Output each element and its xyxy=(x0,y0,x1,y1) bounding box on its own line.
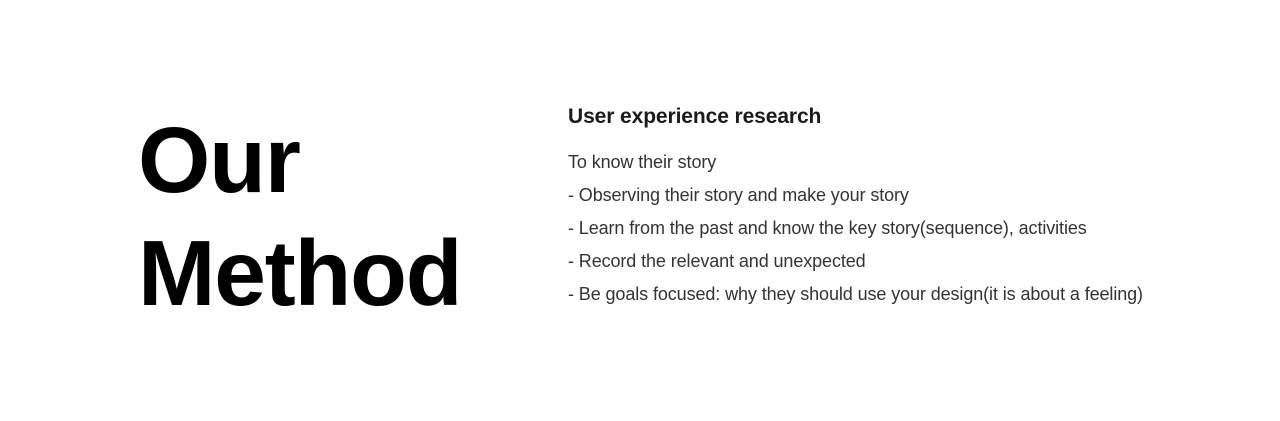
title-block: Our Method xyxy=(138,104,538,330)
list-item: - Record the relevant and unexpected xyxy=(568,251,1208,272)
page-title: Our Method xyxy=(138,104,538,330)
list-item: - Observing their story and make your st… xyxy=(568,185,1208,206)
bullet-list: - Observing their story and make your st… xyxy=(568,185,1208,305)
section-heading: User experience research xyxy=(568,104,1208,130)
lead-paragraph: To know their story xyxy=(568,152,1208,173)
slide-canvas: Our Method User experience research To k… xyxy=(0,0,1280,421)
content-block: User experience research To know their s… xyxy=(568,104,1208,305)
list-item: - Be goals focused: why they should use … xyxy=(568,284,1208,305)
list-item: - Learn from the past and know the key s… xyxy=(568,218,1208,239)
